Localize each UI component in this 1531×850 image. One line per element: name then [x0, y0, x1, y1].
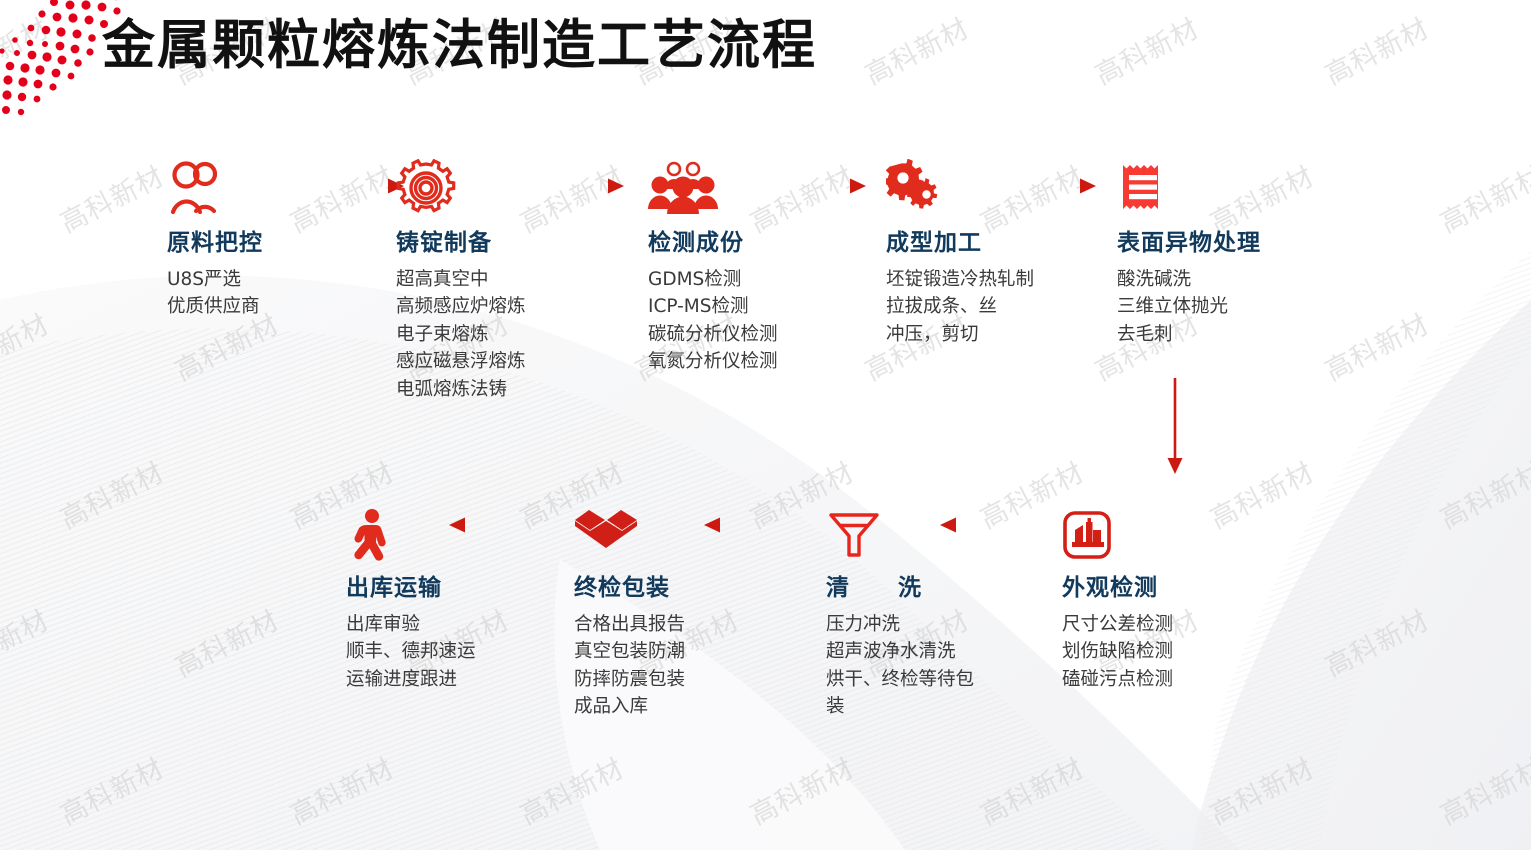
step-detail-list: U8S严选 优质供应商	[167, 266, 382, 321]
step-detail-line: U8S严选	[167, 266, 382, 293]
watermark-text: 高科新材	[0, 303, 55, 389]
step-detail-list: 酸洗碱洗 三维立体抛光 去毛刺	[1117, 266, 1357, 348]
step-detail-line: 出库审验	[346, 611, 561, 638]
step-detail-line: 成品入库	[574, 693, 789, 720]
watermark-text: 高科新材	[1317, 599, 1434, 685]
watermark-text: 高科新材	[167, 599, 284, 685]
step-detail-line: 感应磁悬浮熔炼	[396, 348, 611, 375]
step-detail-line: 烘干、终检等待包 装	[826, 666, 981, 721]
background-swirl	[0, 0, 1531, 850]
step-detail-list: 超高真空中 高频感应炉熔炼 电子束熔炼 感应磁悬浮熔炼 电弧熔炼法铸	[396, 266, 611, 403]
step-detail-line: 电子束熔炼	[396, 321, 611, 348]
step-detail-line: 碳硫分析仪检测	[648, 321, 863, 348]
step-detail-list: GDMS检测 ICP-MS检测 碳硫分析仪检测 氧氮分析仪检测	[648, 266, 863, 376]
step-title: 清 洗	[826, 568, 1036, 602]
step-detail-line: 尺寸公差检测	[1062, 611, 1277, 638]
watermark-text: 高科新材	[512, 747, 629, 833]
step-detail-list: 合格出具报告 真空包装防潮 防摔防震包装 成品入库	[574, 611, 789, 721]
step-detail-line: 磕碰污点检测	[1062, 666, 1277, 693]
step-detail-line: 合格出具报告	[574, 611, 789, 638]
watermark-text: 高科新材	[1432, 451, 1531, 537]
arrow-right	[296, 175, 406, 197]
watermark-text: 高科新材	[857, 7, 974, 93]
step-detail-list: 坯锭锻造冷热轧制 拉拔成条、丝 冲压，剪切	[886, 266, 1101, 348]
step-detail-line: 坯锭锻造冷热轧制	[886, 266, 1101, 293]
watermark-layer: 高科新材高科新材高科新材高科新材高科新材高科新材高科新材高科新材高科新材高科新材…	[0, 0, 1531, 850]
arrow-right	[988, 175, 1098, 197]
receipt-icon	[1117, 155, 1357, 217]
arrow-right	[516, 175, 626, 197]
watermark-text: 高科新材	[1432, 747, 1531, 833]
arrow-right	[758, 175, 868, 197]
watermark-text: 高科新材	[1317, 7, 1434, 93]
step-detail-line: 高频感应炉熔炼	[396, 293, 611, 320]
step-detail-line: 超声波净水清洗	[826, 638, 1036, 665]
watermark-text: 高科新材	[0, 599, 55, 685]
watermark-text: 高科新材	[742, 747, 859, 833]
step-detail-line: GDMS检测	[648, 266, 863, 293]
step-detail-line: 防摔防震包装	[574, 666, 789, 693]
arrow-left	[447, 514, 557, 536]
watermark-text: 高科新材	[282, 747, 399, 833]
step-detail-line: 真空包装防潮	[574, 638, 789, 665]
step-title: 外观检测	[1062, 568, 1277, 602]
step-detail-line: 酸洗碱洗	[1117, 266, 1357, 293]
watermark-text: 高科新材	[1087, 7, 1204, 93]
page-title: 金属颗粒熔炼法制造工艺流程	[102, 3, 817, 79]
flow-step-surface-foreign-matter-treatment[interactable]: 表面异物处理 酸洗碱洗 三维立体抛光 去毛刺	[1117, 155, 1357, 348]
step-detail-line: ICP-MS检测	[648, 293, 863, 320]
step-title: 出库运输	[346, 568, 561, 602]
step-detail-line: 顺丰、德邦速运	[346, 638, 561, 665]
step-detail-line: 去毛刺	[1117, 321, 1357, 348]
step-title: 成型加工	[886, 223, 1101, 257]
step-detail-list: 压力冲洗 超声波净水清洗 烘干、终检等待包 装	[826, 611, 1036, 721]
step-detail-line: 运输进度跟进	[346, 666, 561, 693]
step-title: 检测成份	[648, 223, 863, 257]
watermark-text: 高科新材	[52, 451, 169, 537]
step-detail-list: 尺寸公差检测 划伤缺陷检测 磕碰污点检测	[1062, 611, 1277, 693]
step-title: 终检包装	[574, 568, 789, 602]
step-detail-line: 超高真空中	[396, 266, 611, 293]
watermark-text: 高科新材	[52, 155, 169, 241]
step-detail-line: 压力冲洗	[826, 611, 1036, 638]
factory-badge-icon	[1062, 500, 1277, 562]
step-title: 原料把控	[167, 223, 382, 257]
watermark-text: 高科新材	[52, 747, 169, 833]
step-detail-line: 氧氮分析仪检测	[648, 348, 863, 375]
arrow-left	[938, 514, 1048, 536]
step-detail-line: 三维立体抛光	[1117, 293, 1357, 320]
step-title: 铸锭制备	[396, 223, 611, 257]
step-detail-list: 出库审验 顺丰、德邦速运 运输进度跟进	[346, 611, 561, 693]
step-detail-line: 划伤缺陷检测	[1062, 638, 1277, 665]
arrow-left	[702, 514, 812, 536]
watermark-text: 高科新材	[972, 747, 1089, 833]
step-detail-line: 冲压，剪切	[886, 321, 1101, 348]
flow-step-appearance-inspection[interactable]: 外观检测 尺寸公差检测 划伤缺陷检测 磕碰污点检测	[1062, 500, 1277, 693]
watermark-text: 高科新材	[1432, 155, 1531, 241]
step-detail-line: 优质供应商	[167, 293, 382, 320]
arrow-down	[1163, 378, 1187, 476]
step-detail-line: 电弧熔炼法铸	[396, 376, 611, 403]
watermark-text: 高科新材	[1202, 747, 1319, 833]
step-detail-line: 拉拔成条、丝	[886, 293, 1101, 320]
step-title: 表面异物处理	[1117, 223, 1357, 257]
